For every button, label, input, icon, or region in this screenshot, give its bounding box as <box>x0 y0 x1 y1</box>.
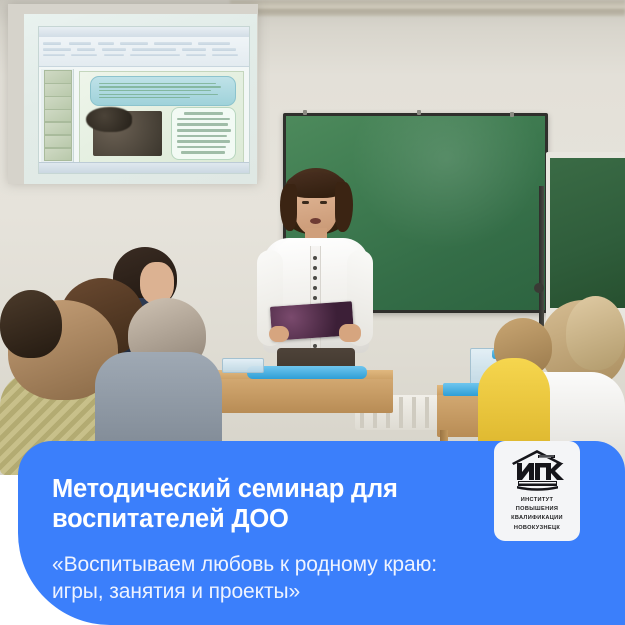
ceiling-beam-shadow <box>230 9 625 16</box>
board-support-pole <box>539 186 544 338</box>
presenter-hand-left <box>269 326 289 342</box>
logo-line-2: ПОВЫШЕНИЯ <box>511 505 563 514</box>
presenter-eye-left <box>302 201 309 204</box>
presenter-hair-left <box>280 184 297 231</box>
page-subtitle: «Воспитываем любовь к родному краю: игры… <box>52 552 482 605</box>
page-title: Методический семинар для воспитателей ДО… <box>52 475 472 534</box>
logo-line-4: НОВОКУЗНЕЦК <box>511 524 563 533</box>
board-clip <box>510 112 514 117</box>
ribbon-row <box>43 54 244 56</box>
institute-logo-text: ИНСТИТУТ ПОВЫШЕНИЯ КВАЛИФИКАЦИИ НОВОКУЗН… <box>511 496 563 533</box>
presenter-hand-right <box>339 324 361 342</box>
slide-thumbnail-panel <box>41 69 73 168</box>
ribbon-row <box>43 48 244 50</box>
blue-ring-mat <box>247 366 367 379</box>
slide-image-overlay <box>86 107 132 131</box>
board-clip <box>303 110 307 115</box>
ribbon-row <box>43 42 244 44</box>
presenter-mouth <box>310 218 321 224</box>
slide-title-lines <box>99 82 226 100</box>
powerpoint-statusbar <box>39 162 249 173</box>
institute-logo-card[interactable]: ИНСТИТУТ ПОВЫШЕНИЯ КВАЛИФИКАЦИИ НОВОКУЗН… <box>494 441 580 541</box>
board-knob <box>534 283 544 293</box>
attendee-head <box>0 290 62 358</box>
slide-title-box <box>90 76 236 106</box>
logo-line-1: ИНСТИТУТ <box>511 496 563 505</box>
ipk-monogram-logo-icon <box>510 448 564 492</box>
projection-screen-frame <box>8 4 258 184</box>
poster-root: Методический семинар для воспитателей ДО… <box>0 0 625 625</box>
presenter-eye-right <box>320 201 327 204</box>
slide-canvas <box>79 71 245 167</box>
slide-text-box <box>171 107 235 160</box>
title-banner: Методический семинар для воспитателей ДО… <box>18 441 625 625</box>
powerpoint-ribbon <box>39 37 249 67</box>
powerpoint-window <box>38 26 250 174</box>
desk-center <box>218 379 393 413</box>
board-clip <box>417 110 421 115</box>
logo-line-3: КВАЛИФИКАЦИИ <box>511 514 563 523</box>
event-photo <box>0 0 625 475</box>
projection-screen <box>24 14 257 184</box>
presenter-hair-right <box>335 182 353 232</box>
attendee-head <box>566 296 625 370</box>
white-papers <box>222 358 264 373</box>
